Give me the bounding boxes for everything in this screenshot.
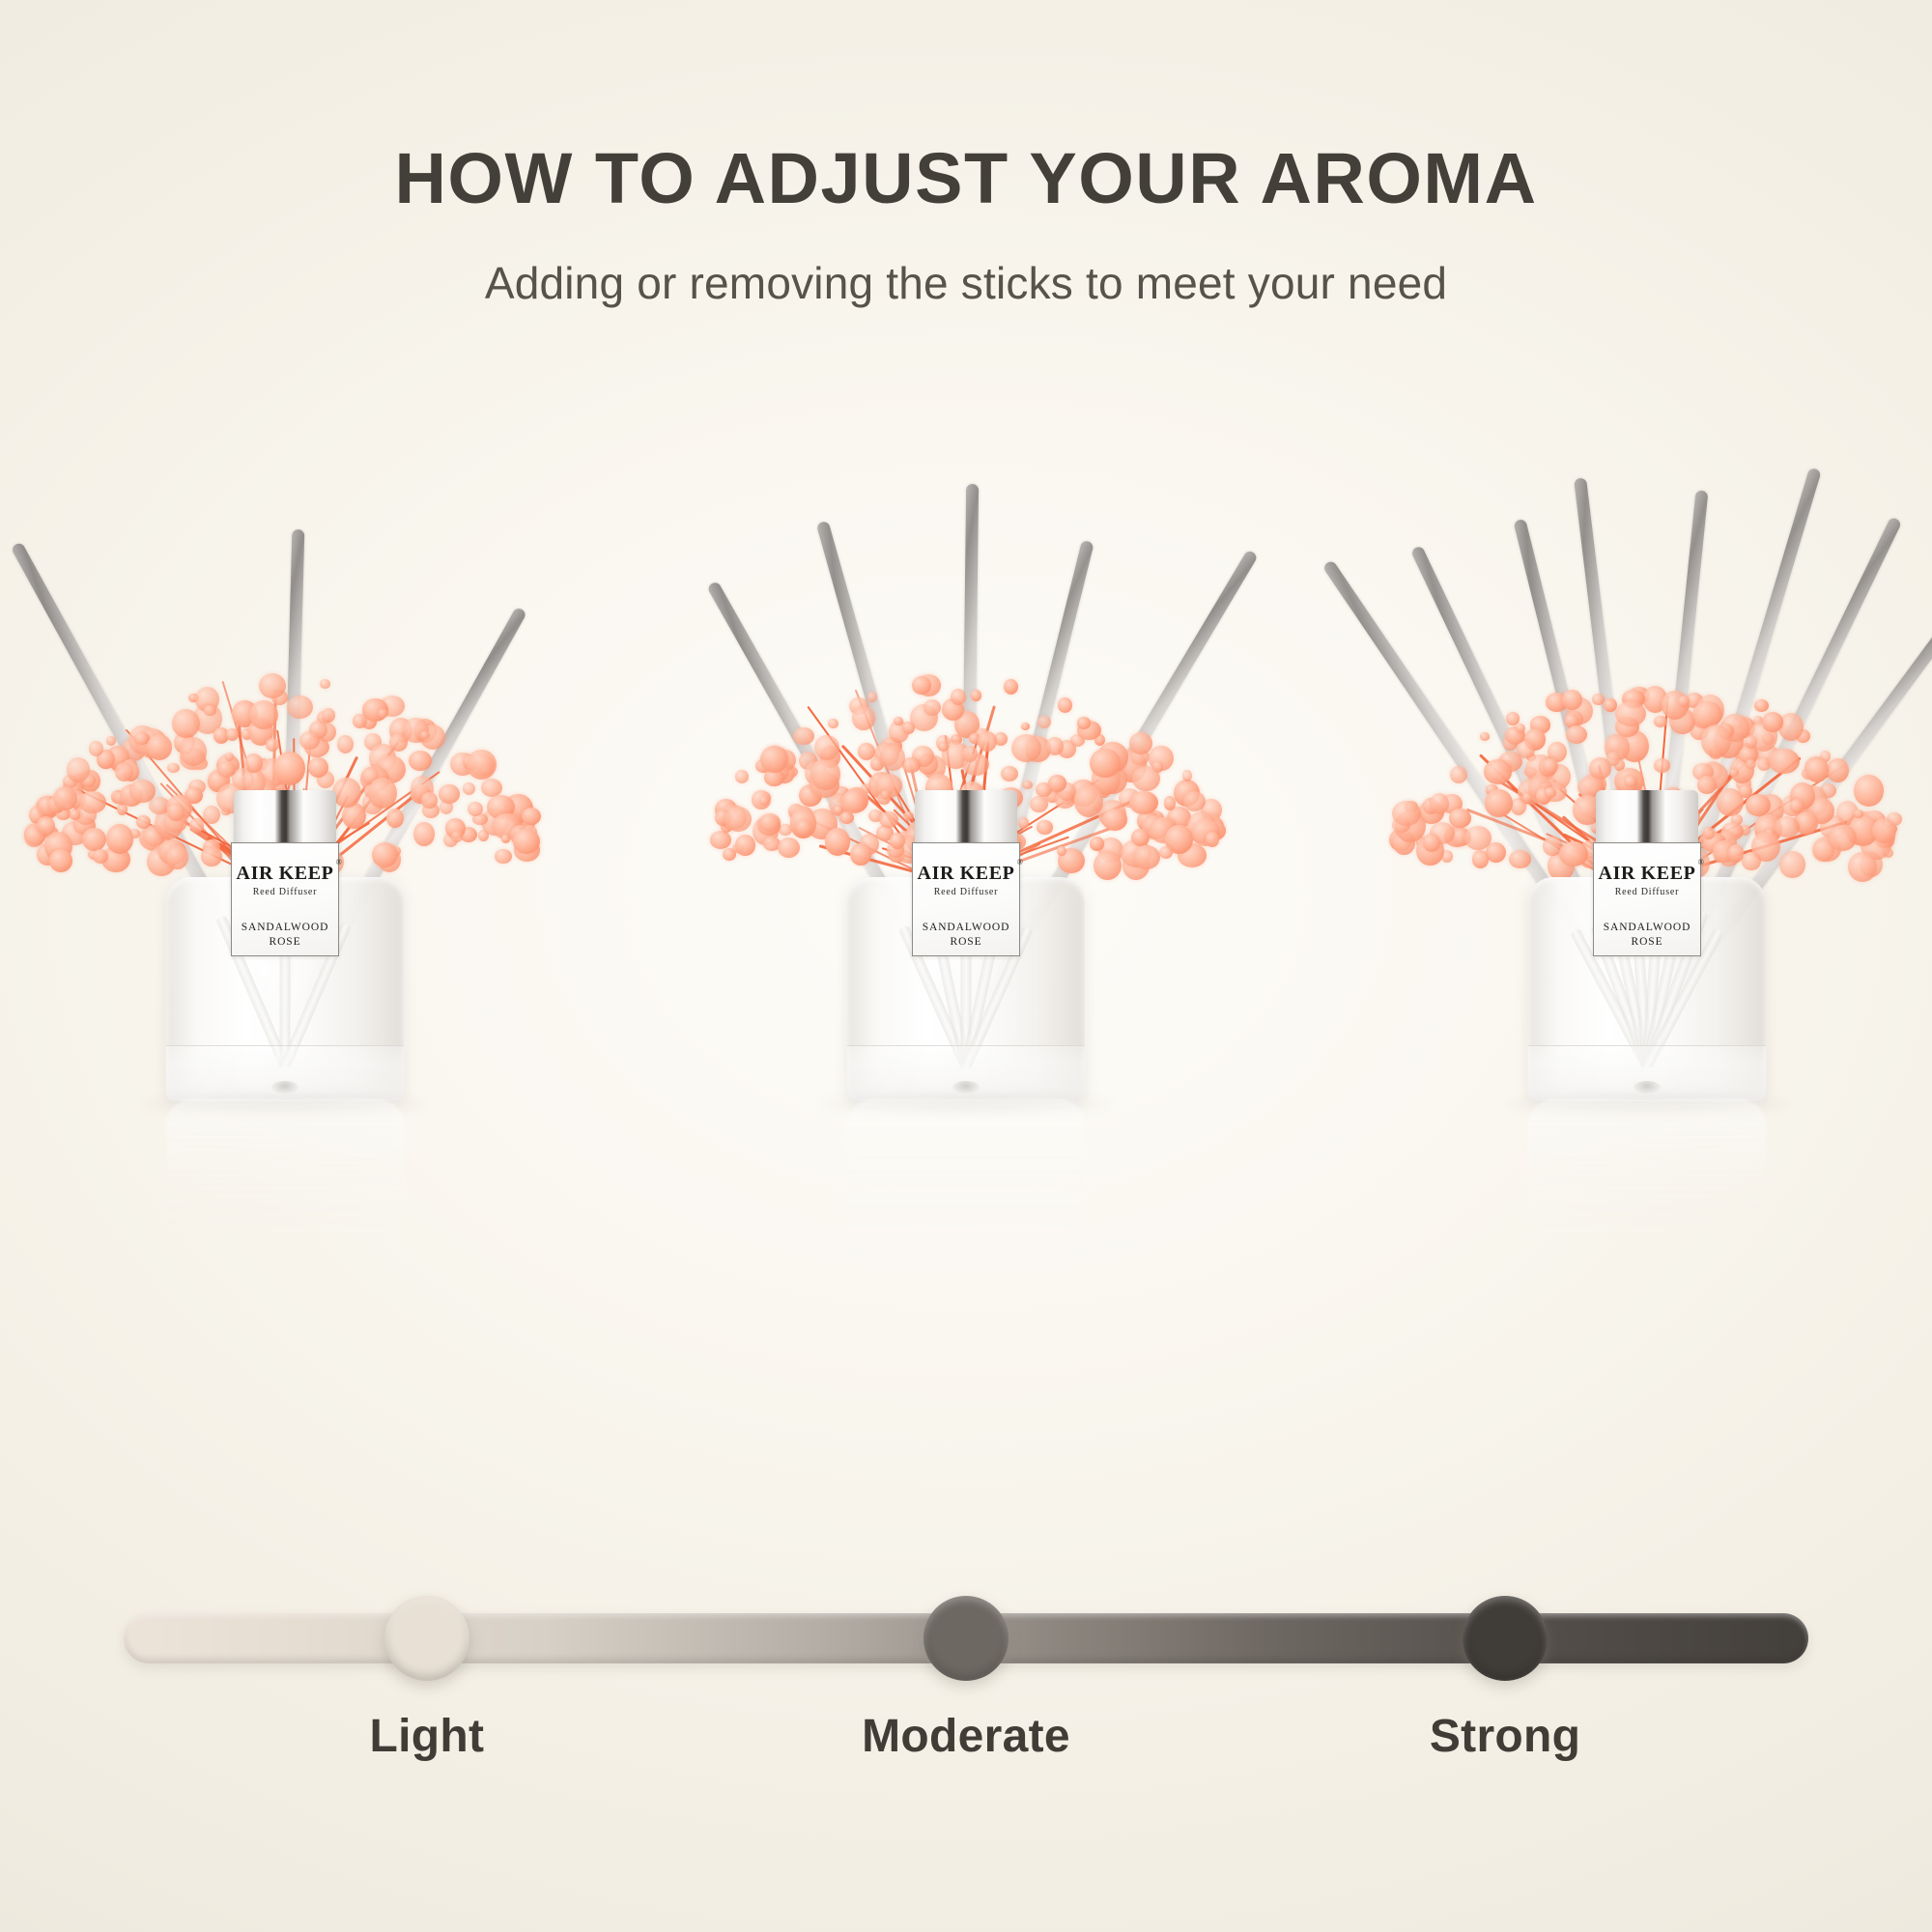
flower-floret — [147, 734, 172, 760]
flower-floret — [274, 752, 305, 785]
flower-floret — [1654, 758, 1670, 773]
flower-floret — [1164, 796, 1177, 810]
product-label: AIR KEEP®Reed DiffuserSANDALWOODROSE — [231, 842, 339, 956]
flower-floret — [467, 750, 497, 780]
diffuser-light: AIR KEEPAIR KEEP®Reed DiffuserSANDALWOOD… — [0, 415, 584, 1517]
flower-floret — [79, 791, 106, 814]
flower-floret — [115, 762, 133, 781]
flower-floret — [299, 731, 319, 750]
slider-knob-strong[interactable] — [1463, 1596, 1548, 1681]
flower-floret — [67, 757, 90, 781]
scent-line-1: SANDALWOOD — [923, 921, 1010, 935]
flower-floret — [308, 757, 328, 778]
flower-floret — [49, 849, 72, 873]
flower-floret — [796, 819, 811, 837]
flower-floret — [1762, 712, 1783, 732]
product-type: Reed Diffuser — [253, 887, 318, 897]
product-type: Reed Diffuser — [934, 887, 999, 897]
flower-floret — [828, 719, 838, 728]
flower-floret — [1090, 837, 1104, 851]
scent-line-1: SANDALWOOD — [241, 921, 329, 935]
flower-floret — [89, 741, 103, 756]
level-label-strong: Strong — [1302, 1710, 1708, 1763]
flower-floret — [1606, 752, 1621, 766]
flower-floret — [1094, 851, 1122, 880]
flower-floret — [1754, 699, 1770, 713]
flower-floret — [1449, 809, 1470, 828]
scent-name: SANDALWOODROSE — [241, 921, 329, 949]
flower-floret — [1775, 816, 1800, 838]
flower-floret — [1615, 701, 1645, 726]
registered-trademark-icon: ® — [336, 859, 343, 867]
flower-floret — [894, 717, 902, 725]
level-label-light: Light — [224, 1710, 630, 1763]
flower-floret — [1566, 725, 1587, 744]
flower-floret — [912, 676, 931, 695]
flower-floret — [735, 770, 750, 783]
flower-floret — [1131, 829, 1150, 846]
scent-name: SANDALWOODROSE — [923, 921, 1010, 949]
infographic-canvas: HOW TO ADJUST YOUR AROMA Adding or remov… — [0, 0, 1932, 1932]
flower-floret — [1769, 749, 1800, 774]
registered-trademark-icon: ® — [1698, 859, 1705, 867]
flower-floret — [1678, 696, 1690, 707]
flower-floret — [403, 718, 429, 743]
slider-knob-light[interactable] — [384, 1596, 469, 1681]
flower-floret — [735, 835, 756, 855]
flower-floret — [1129, 791, 1158, 815]
diffuser-strong: AIR KEEPAIR KEEP®Reed DiffuserSANDALWOOD… — [1348, 415, 1932, 1517]
bottle-reflection — [1528, 1099, 1766, 1244]
flower-floret — [1624, 776, 1637, 787]
header: HOW TO ADJUST YOUR AROMA Adding or remov… — [0, 0, 1932, 309]
flower-floret — [1022, 781, 1033, 790]
flower-floret — [1077, 717, 1091, 729]
flower-floret — [1829, 825, 1857, 852]
flower-floret — [1480, 732, 1490, 740]
flower-floret — [778, 838, 800, 858]
flower-floret — [1472, 850, 1490, 867]
page-subtitle: Adding or removing the sticks to meet yo… — [0, 257, 1932, 309]
flower-floret — [1046, 737, 1064, 755]
flower-floret — [451, 831, 463, 842]
flower-floret — [217, 761, 236, 778]
scent-line-1: SANDALWOOD — [1604, 921, 1691, 935]
flower-floret — [439, 784, 460, 803]
flower-floret — [204, 705, 216, 716]
flower-floret — [1037, 716, 1051, 728]
flower-floret — [1592, 694, 1605, 705]
flower-floret — [938, 742, 949, 751]
flower-floret — [1701, 724, 1732, 757]
flower-floret — [106, 736, 117, 746]
flower-floret — [1132, 766, 1159, 791]
flower-floret — [53, 786, 77, 810]
flower-floret — [1048, 775, 1066, 791]
brand-name: AIR KEEP® — [237, 864, 334, 883]
flower-floret — [724, 807, 752, 832]
product-row: AIR KEEPAIR KEEP®Reed DiffuserSANDALWOOD… — [0, 415, 1932, 1517]
flower-floret — [1090, 749, 1120, 778]
product-label: AIR KEEP®Reed DiffuserSANDALWOODROSE — [1593, 842, 1701, 956]
product-type: Reed Diffuser — [1615, 887, 1680, 897]
scent-name: SANDALWOODROSE — [1604, 921, 1691, 949]
flower-floret — [1854, 810, 1862, 818]
flower-floret — [1485, 789, 1513, 817]
flower-floret — [1206, 832, 1220, 847]
product-label: AIR KEEP®Reed DiffuserSANDALWOODROSE — [912, 842, 1020, 956]
flower-floret — [501, 835, 510, 843]
page-title: HOW TO ADJUST YOUR AROMA — [0, 143, 1932, 214]
flower-floret — [70, 810, 81, 819]
flower-floret — [923, 699, 941, 716]
flower-floret — [225, 753, 234, 761]
registered-trademark-icon: ® — [1017, 859, 1024, 867]
flower-floret — [978, 731, 997, 752]
flower-floret — [378, 709, 388, 718]
flower-floret — [852, 706, 875, 730]
level-label-row: LightModerateStrong — [0, 1710, 1932, 1806]
flower-floret — [259, 673, 286, 698]
flower-floret — [1805, 757, 1829, 782]
flower-floret — [962, 746, 978, 762]
flower-floret — [266, 738, 279, 752]
flower-floret — [495, 849, 511, 864]
flower-floret — [1450, 766, 1467, 783]
bottle-reflection — [847, 1099, 1085, 1244]
brand-name: AIR KEEP® — [918, 864, 1015, 883]
bottle-reflection — [166, 1099, 404, 1244]
flower-floret — [1779, 851, 1806, 877]
flower-floret — [167, 763, 180, 774]
flower-floret — [180, 737, 207, 766]
slider-knob-moderate[interactable] — [923, 1596, 1009, 1681]
flower-floret — [1692, 701, 1722, 727]
flower-floret — [409, 751, 432, 771]
flower-floret — [1827, 758, 1849, 782]
diffuser-moderate: AIR KEEPAIR KEEP®Reed DiffuserSANDALWOOD… — [667, 415, 1265, 1517]
level-label-moderate: Moderate — [763, 1710, 1169, 1763]
flower-floret — [1004, 679, 1018, 695]
flower-floret — [793, 727, 814, 745]
flower-floret — [1102, 809, 1127, 831]
flower-floret — [1133, 845, 1160, 869]
flower-floret — [1058, 697, 1072, 712]
flower-floret — [481, 779, 502, 797]
flower-floret — [1423, 834, 1440, 852]
flower-floret — [1516, 724, 1525, 733]
flower-floret — [1746, 759, 1756, 770]
flower-floret — [1001, 766, 1018, 781]
flower-floret — [1745, 735, 1757, 749]
flower-floret — [1854, 775, 1884, 806]
flower-floret — [1021, 723, 1031, 730]
flower-floret — [337, 735, 354, 753]
flower-floret — [971, 690, 981, 700]
flower-floret — [881, 745, 905, 771]
scent-line-2: ROSE — [923, 935, 1010, 950]
flower-floret — [249, 700, 278, 729]
diffuser-bottle: AIR KEEPAIR KEEP®Reed DiffuserSANDALWOOD… — [1528, 792, 1766, 1101]
flower-floret — [468, 802, 483, 816]
flower-floret — [1159, 846, 1174, 859]
flower-floret — [1729, 769, 1738, 777]
flower-floret — [421, 792, 437, 809]
flower-floret — [82, 828, 106, 851]
flower-floret — [106, 824, 134, 853]
scent-line-2: ROSE — [241, 935, 329, 950]
flower-floret — [1182, 770, 1192, 781]
flower-floret — [287, 696, 313, 719]
flower-floret — [522, 808, 542, 826]
flower-floret — [1464, 826, 1492, 850]
flower-floret — [226, 728, 239, 741]
flower-floret — [710, 831, 731, 848]
flower-floret — [420, 731, 430, 740]
flower-floret — [1392, 801, 1421, 826]
brand-name: AIR KEEP® — [1599, 864, 1696, 883]
flower-floret — [1183, 791, 1206, 811]
flower-floret — [1848, 852, 1877, 882]
flower-floret — [759, 813, 781, 832]
flower-floret — [902, 722, 915, 734]
flower-floret — [867, 692, 877, 701]
flower-floret — [1543, 758, 1558, 774]
flower-floret — [1484, 759, 1512, 783]
diffuser-bottle: AIR KEEPAIR KEEP®Reed DiffuserSANDALWOOD… — [847, 792, 1085, 1101]
flower-floret — [951, 689, 966, 705]
flower-floret — [172, 709, 200, 738]
flower-floret — [463, 782, 475, 795]
diffuser-bottle: AIR KEEPAIR KEEP®Reed DiffuserSANDALWOOD… — [166, 792, 404, 1101]
intensity-slider[interactable] — [0, 1575, 1932, 1700]
scent-line-2: ROSE — [1604, 935, 1691, 950]
flower-floret — [1790, 799, 1803, 813]
flower-floret — [413, 822, 435, 845]
flower-floret — [320, 679, 330, 689]
flower-floret — [322, 708, 335, 723]
flower-floret — [1872, 818, 1896, 843]
